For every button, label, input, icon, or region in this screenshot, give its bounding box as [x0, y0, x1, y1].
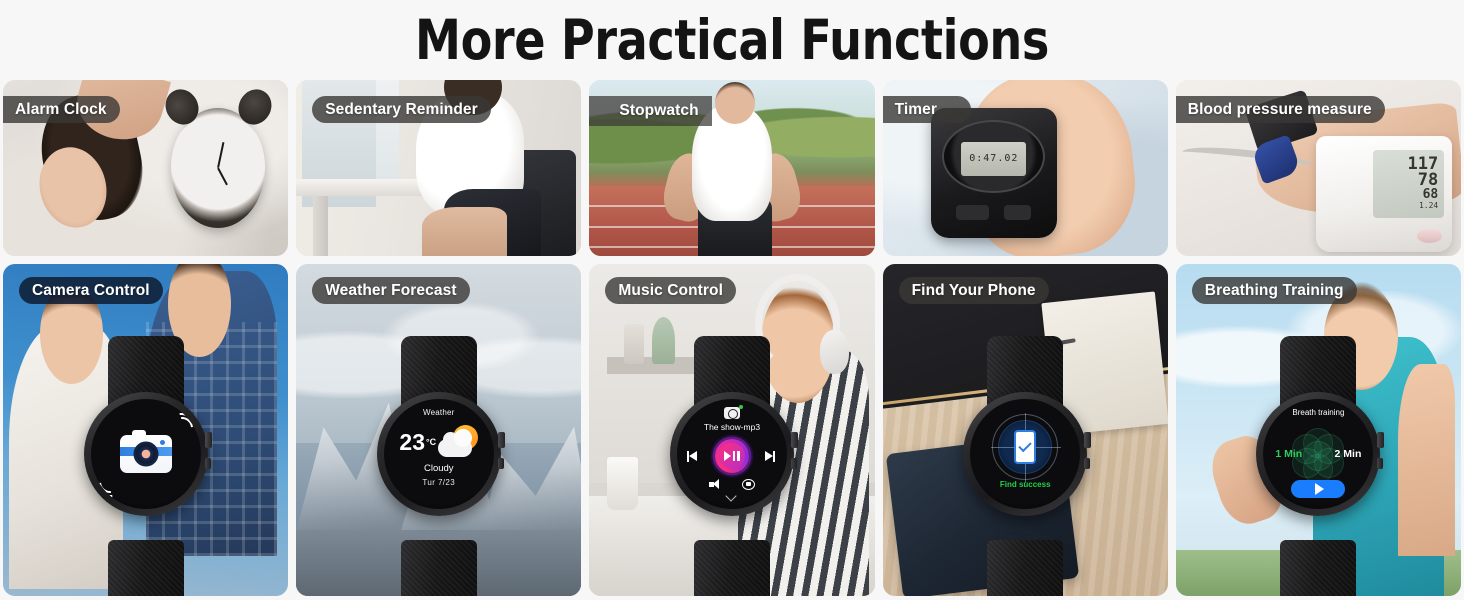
watch-strap-bottom — [401, 540, 477, 596]
chevron-down-icon[interactable] — [727, 492, 736, 497]
bp-start-button — [1417, 229, 1442, 243]
watch-face-breathing[interactable]: Breath training 1 Min 2 Min — [1263, 399, 1373, 509]
feature-card-alarm-clock[interactable]: Alarm Clock — [3, 80, 288, 256]
card-label-music-control: Music Control — [605, 277, 736, 304]
feature-card-timer[interactable]: 0:47.02 Timer — [883, 80, 1168, 256]
music-controls — [677, 434, 787, 478]
card-label-breathing-training: Breathing Training — [1192, 277, 1357, 304]
repeat-icon[interactable] — [742, 479, 755, 490]
torso-skin-shape — [1398, 364, 1455, 557]
stopwatch-lcd: 0:47.02 — [961, 142, 1026, 176]
bp-extra-value: 1.24 — [1419, 201, 1438, 211]
watch-side-button[interactable] — [205, 458, 211, 469]
play-triangle — [724, 451, 731, 461]
play-pause-inner — [719, 443, 745, 469]
weather-unit: °C — [426, 437, 436, 447]
camera-shutter-icon[interactable] — [120, 435, 172, 473]
next-track-icon[interactable] — [765, 450, 777, 462]
weather-date: Tur 7/23 — [422, 478, 455, 487]
watch-face-music[interactable]: The show-mp3 — [677, 399, 787, 509]
bp-dia-value: 78 — [1418, 172, 1438, 188]
watch-strap-bottom — [987, 540, 1063, 596]
watch-bezel: Find success — [963, 392, 1087, 516]
watch-crown[interactable] — [791, 432, 798, 448]
jar-shape — [624, 324, 644, 364]
watch-side-button[interactable] — [498, 458, 504, 469]
next-bar — [773, 451, 775, 462]
feature-card-sedentary-reminder[interactable]: Sedentary Reminder — [296, 80, 581, 256]
stopwatch-mode-button — [1004, 205, 1032, 221]
bp-monitor-device: 117 78 68 1.24 — [1316, 136, 1453, 252]
camera-app-icon — [724, 407, 740, 419]
leg-shape — [422, 207, 508, 256]
watch-face-weather[interactable]: Weather 23 °C Cloudy Tur 7/23 — [384, 399, 494, 509]
card-label-timer: Timer — [883, 96, 971, 123]
feature-card-blood-pressure[interactable]: 117 78 68 1.24 Blood pressure measure — [1176, 80, 1461, 256]
music-track-title: The show-mp3 — [704, 422, 760, 432]
smartwatch-breathing: Breath training 1 Min 2 Min — [1256, 336, 1380, 596]
feature-card-weather-forecast[interactable]: Weather Forecast Weather 23 °C — [296, 264, 581, 596]
volume-icon[interactable] — [709, 479, 722, 490]
watch-bezel — [84, 392, 208, 516]
watch-crown[interactable] — [1084, 432, 1091, 448]
breathing-option-1-min[interactable]: 1 Min — [1275, 448, 1302, 460]
feature-card-music-control[interactable]: Music Control The show-mp3 — [589, 264, 874, 596]
stopwatch-start-stop-button — [956, 205, 989, 221]
watch-strap-bottom — [694, 540, 770, 596]
watch-strap-bottom — [1280, 540, 1356, 596]
card-label-find-your-phone: Find Your Phone — [899, 277, 1049, 304]
smartwatch-music: The show-mp3 — [670, 336, 794, 596]
play-pause-icon[interactable] — [715, 439, 749, 473]
watch-side-button[interactable] — [791, 458, 797, 469]
previous-track-icon[interactable] — [687, 450, 699, 462]
watch-bezel: Breath training 1 Min 2 Min — [1256, 392, 1380, 516]
headphone-earcup — [820, 330, 849, 373]
card-label-blood-pressure: Blood pressure measure — [1176, 96, 1385, 123]
check-icon — [1018, 438, 1031, 451]
weather-main-row: 23 °C — [384, 423, 494, 461]
watch-crown[interactable] — [498, 432, 505, 448]
card-label-camera-control: Camera Control — [19, 277, 163, 304]
breathing-option-2-min[interactable]: 2 Min — [1335, 448, 1362, 460]
desk-leg-shape — [313, 196, 327, 256]
smartwatch-weather: Weather 23 °C Cloudy Tur 7/23 — [377, 336, 501, 596]
camera-flash-dot — [160, 440, 165, 445]
smartwatch-camera — [84, 336, 208, 596]
cloud-icon — [438, 439, 472, 457]
watch-bezel: The show-mp3 — [670, 392, 794, 516]
breathing-title: Breath training — [1292, 408, 1344, 417]
feature-card-camera-control[interactable]: Camera Control — [3, 264, 288, 596]
find-phone-screen: Find success — [970, 399, 1080, 509]
bp-monitor-screen: 117 78 68 1.24 — [1373, 150, 1444, 217]
prev-triangle — [689, 451, 697, 461]
bp-pulse-value: 68 — [1423, 188, 1439, 201]
feature-grid: Alarm Clock Sedentary Reminder — [3, 80, 1461, 596]
card-label-stopwatch: Stopwatch — [589, 96, 711, 126]
alarm-clock-icon — [171, 108, 265, 228]
cup-shape — [607, 457, 638, 510]
weather-title: Weather — [423, 408, 455, 417]
card-label-sedentary-reminder: Sedentary Reminder — [312, 96, 491, 123]
play-icon — [1315, 483, 1324, 495]
phone-icon — [1014, 430, 1036, 464]
watch-bezel: Weather 23 °C Cloudy Tur 7/23 — [377, 392, 501, 516]
feature-card-find-your-phone[interactable]: Find Your Phone — [883, 264, 1168, 596]
page-title: More Practical Functions — [117, 8, 1347, 72]
music-secondary-controls — [709, 479, 755, 490]
camera-lens — [133, 442, 158, 467]
handheld-stopwatch: 0:47.02 — [931, 108, 1056, 238]
card-label-alarm-clock: Alarm Clock — [3, 96, 120, 123]
camera-viewfinder-bump — [132, 430, 146, 436]
next-triangle — [765, 451, 773, 461]
watch-side-button[interactable] — [1377, 458, 1383, 469]
phone-check-icon — [998, 420, 1052, 474]
watch-face-camera[interactable] — [91, 399, 201, 509]
clock-hour-hand — [217, 142, 224, 168]
camera-screen — [91, 399, 201, 509]
smartwatch-find-phone: Find success — [963, 336, 1087, 596]
weather-condition: Cloudy — [424, 463, 454, 474]
pause-bars — [733, 451, 740, 461]
watch-strap-bottom — [108, 540, 184, 596]
weather-temperature: 23 — [399, 431, 425, 454]
sun-cloud-icon — [438, 425, 480, 459]
watch-crown[interactable] — [1377, 432, 1384, 448]
feature-card-breathing-training[interactable]: Breathing Training Breath training — [1176, 264, 1461, 596]
card-label-weather-forecast: Weather Forecast — [312, 277, 469, 304]
feature-card-stopwatch[interactable]: Stopwatch — [589, 80, 874, 256]
breathing-start-button[interactable] — [1291, 480, 1345, 498]
watch-face-find-phone[interactable]: Find success — [970, 399, 1080, 509]
watch-crown[interactable] — [205, 432, 212, 448]
runner-head-shape — [715, 82, 755, 124]
breathing-duration-options: 1 Min 2 Min — [1263, 448, 1373, 460]
product-feature-banner: More Practical Functions Alarm Clock — [0, 0, 1464, 600]
watch-side-button[interactable] — [1084, 458, 1090, 469]
clock-minute-hand — [217, 168, 228, 186]
